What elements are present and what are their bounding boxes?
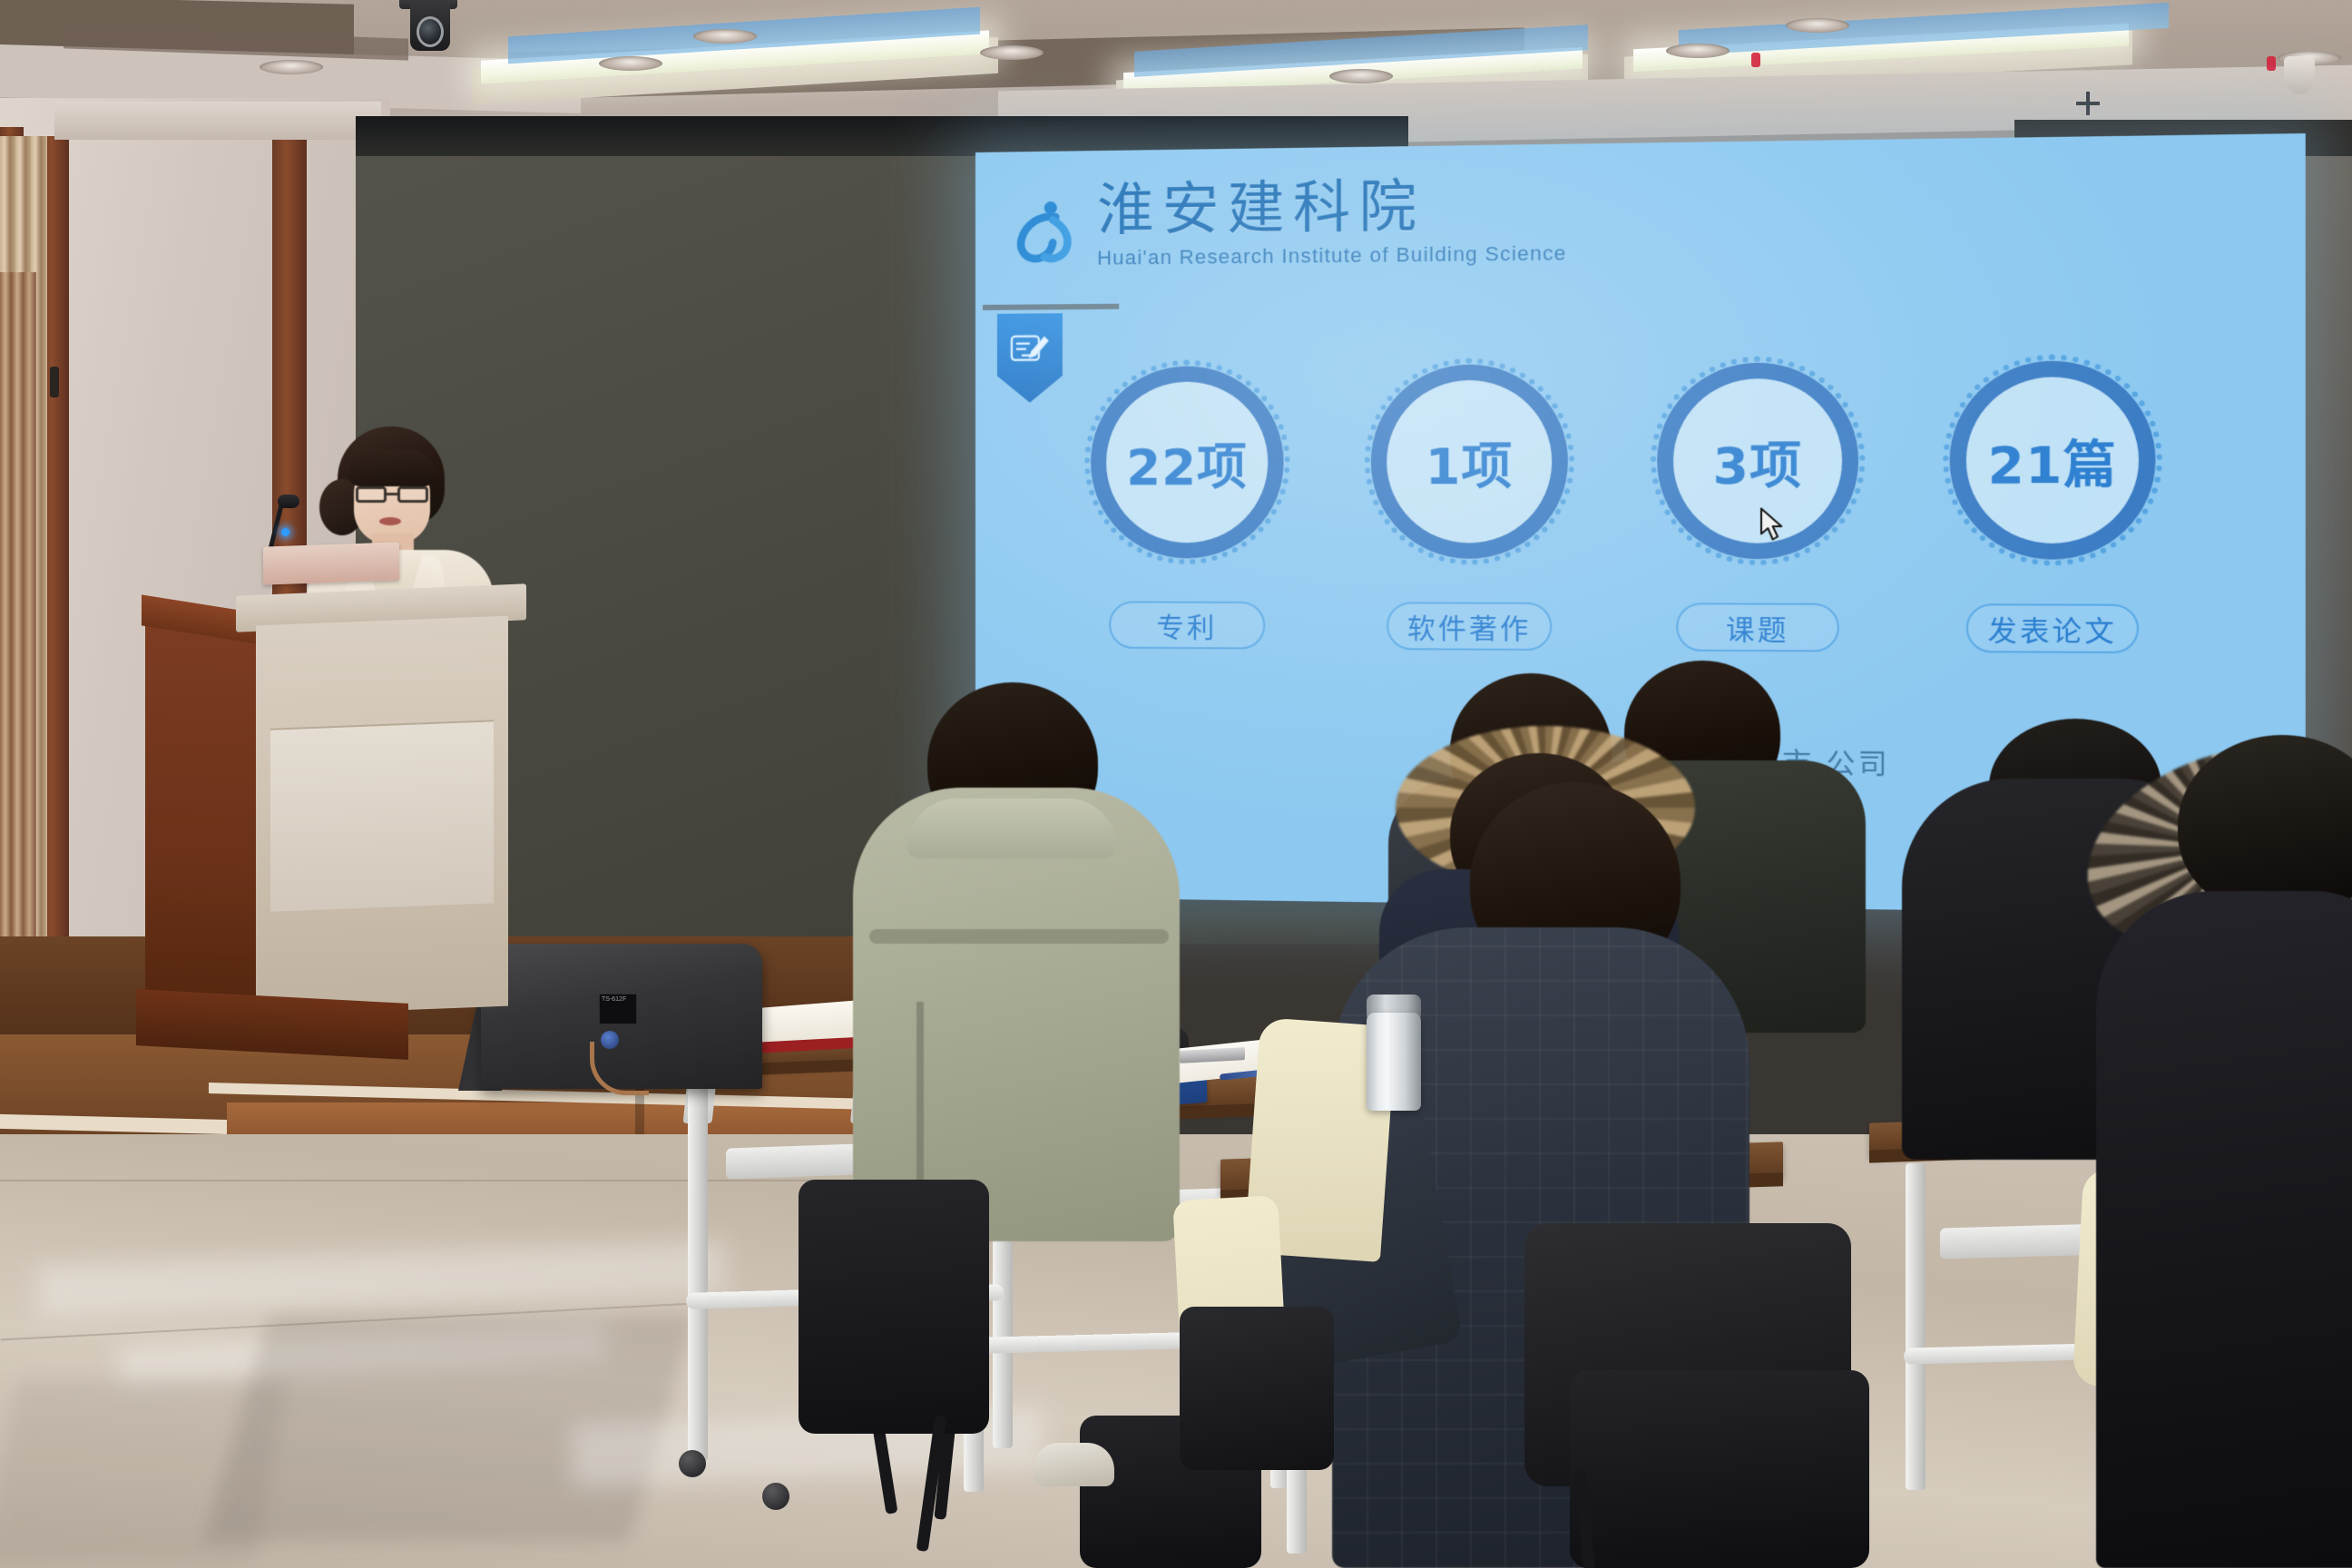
curtain-left-folds bbox=[0, 272, 36, 1053]
microphone-led-indicator bbox=[281, 528, 289, 536]
metric-value: 22项 bbox=[1106, 381, 1268, 543]
thermos-bottle bbox=[1367, 1013, 1421, 1111]
metric-ring-inner: 22项 bbox=[1106, 381, 1268, 543]
presenter-mouth bbox=[379, 517, 401, 525]
door-handle-icon bbox=[50, 367, 59, 397]
metric-ring: 21篇 bbox=[1955, 365, 2151, 554]
metric-label: 软件著作 bbox=[1387, 602, 1552, 651]
downlight-icon-4 bbox=[980, 45, 1044, 60]
microphone-head-icon bbox=[278, 495, 299, 508]
metric-item: 1项 软件著作 bbox=[1367, 368, 1573, 651]
desk-leg bbox=[1906, 1163, 1926, 1490]
metric-item: 3项 课题 bbox=[1652, 367, 1864, 652]
floor-reflection-curtain bbox=[0, 1379, 289, 1561]
metric-label: 发表论文 bbox=[1966, 603, 2139, 653]
badge-rule bbox=[983, 304, 1119, 310]
presenter-glasses-icon bbox=[356, 486, 428, 503]
downlight-icon-6 bbox=[1786, 18, 1849, 33]
slide-logo-text: 淮安建科院 Huai'an Research Institute of Buil… bbox=[1097, 176, 1567, 269]
metric-label: 课题 bbox=[1676, 603, 1839, 652]
presenter-laptop bbox=[263, 542, 399, 584]
person-parka bbox=[2096, 891, 2352, 1568]
glasses-bridge bbox=[387, 493, 397, 495]
desk-caster bbox=[762, 1483, 789, 1510]
metric-item: 22项 专利 bbox=[1086, 370, 1289, 650]
wall-header-left bbox=[54, 102, 381, 140]
downlight-icon-5 bbox=[1329, 69, 1393, 83]
metric-value: 3项 bbox=[1673, 378, 1842, 544]
metric-ring: 22项 bbox=[1095, 370, 1279, 554]
document-edit-glyph bbox=[1010, 331, 1050, 367]
glasses-lens-right bbox=[397, 486, 428, 503]
camera-lens-icon bbox=[416, 16, 444, 47]
slide-logo-subtitle-en: Huai'an Research Institute of Building S… bbox=[1097, 241, 1567, 270]
metric-item: 21篇 发表论文 bbox=[1945, 365, 2161, 653]
shoe bbox=[1034, 1443, 1114, 1486]
downlight-icon-1 bbox=[260, 60, 323, 74]
podium-front-panel bbox=[270, 720, 494, 911]
downlight-icon-3 bbox=[599, 56, 662, 71]
metric-ring: 1项 bbox=[1376, 368, 1563, 554]
bag-under-desk bbox=[1180, 1307, 1334, 1470]
ceiling-camera-icon bbox=[410, 0, 450, 51]
presenter-hair-front bbox=[348, 450, 436, 486]
metric-value: 21篇 bbox=[1966, 377, 2139, 544]
desk-leg bbox=[688, 1080, 708, 1461]
metrics-row: 22项 专利 1项 软件著作 bbox=[1086, 365, 2208, 653]
slide-logo-title-cn: 淮安建科院 bbox=[1097, 176, 1567, 239]
podium bbox=[236, 590, 526, 1080]
metric-ring-inner: 1项 bbox=[1387, 380, 1552, 544]
downlight-icon-7 bbox=[1666, 44, 1730, 58]
chair-mid bbox=[799, 1180, 989, 1434]
metric-value: 1项 bbox=[1387, 380, 1552, 544]
person-collar bbox=[907, 799, 1116, 858]
podium-side-panel bbox=[145, 620, 256, 1024]
metric-label: 专利 bbox=[1109, 601, 1265, 649]
indicator-led-1 bbox=[1751, 53, 1760, 67]
downlight-icon-2 bbox=[693, 29, 757, 44]
metric-ring: 3项 bbox=[1661, 367, 1853, 554]
conference-room-photo: 淮安建科院 Huai'an Research Institute of Buil… bbox=[0, 0, 2352, 1568]
pa-speaker-model-label: TS-612F bbox=[599, 994, 637, 1024]
slide-logo: 淮安建科院 Huai'an Research Institute of Buil… bbox=[1012, 176, 1567, 270]
running-figure-logo-icon bbox=[1012, 198, 1083, 271]
desk-caster bbox=[679, 1450, 706, 1477]
metric-ring-inner: 21篇 bbox=[1966, 377, 2139, 544]
chair-foreground-1-seat bbox=[1570, 1370, 1869, 1568]
indicator-led-2 bbox=[2267, 56, 2276, 71]
glasses-lens-left bbox=[356, 486, 387, 503]
person-jacket-seam bbox=[869, 929, 1169, 944]
ceiling-cross-mark-v bbox=[2086, 92, 2090, 115]
document-edit-icon bbox=[997, 313, 1063, 403]
sprinkler-head-icon bbox=[2284, 56, 2315, 94]
metric-ring-inner: 3项 bbox=[1673, 378, 1842, 544]
